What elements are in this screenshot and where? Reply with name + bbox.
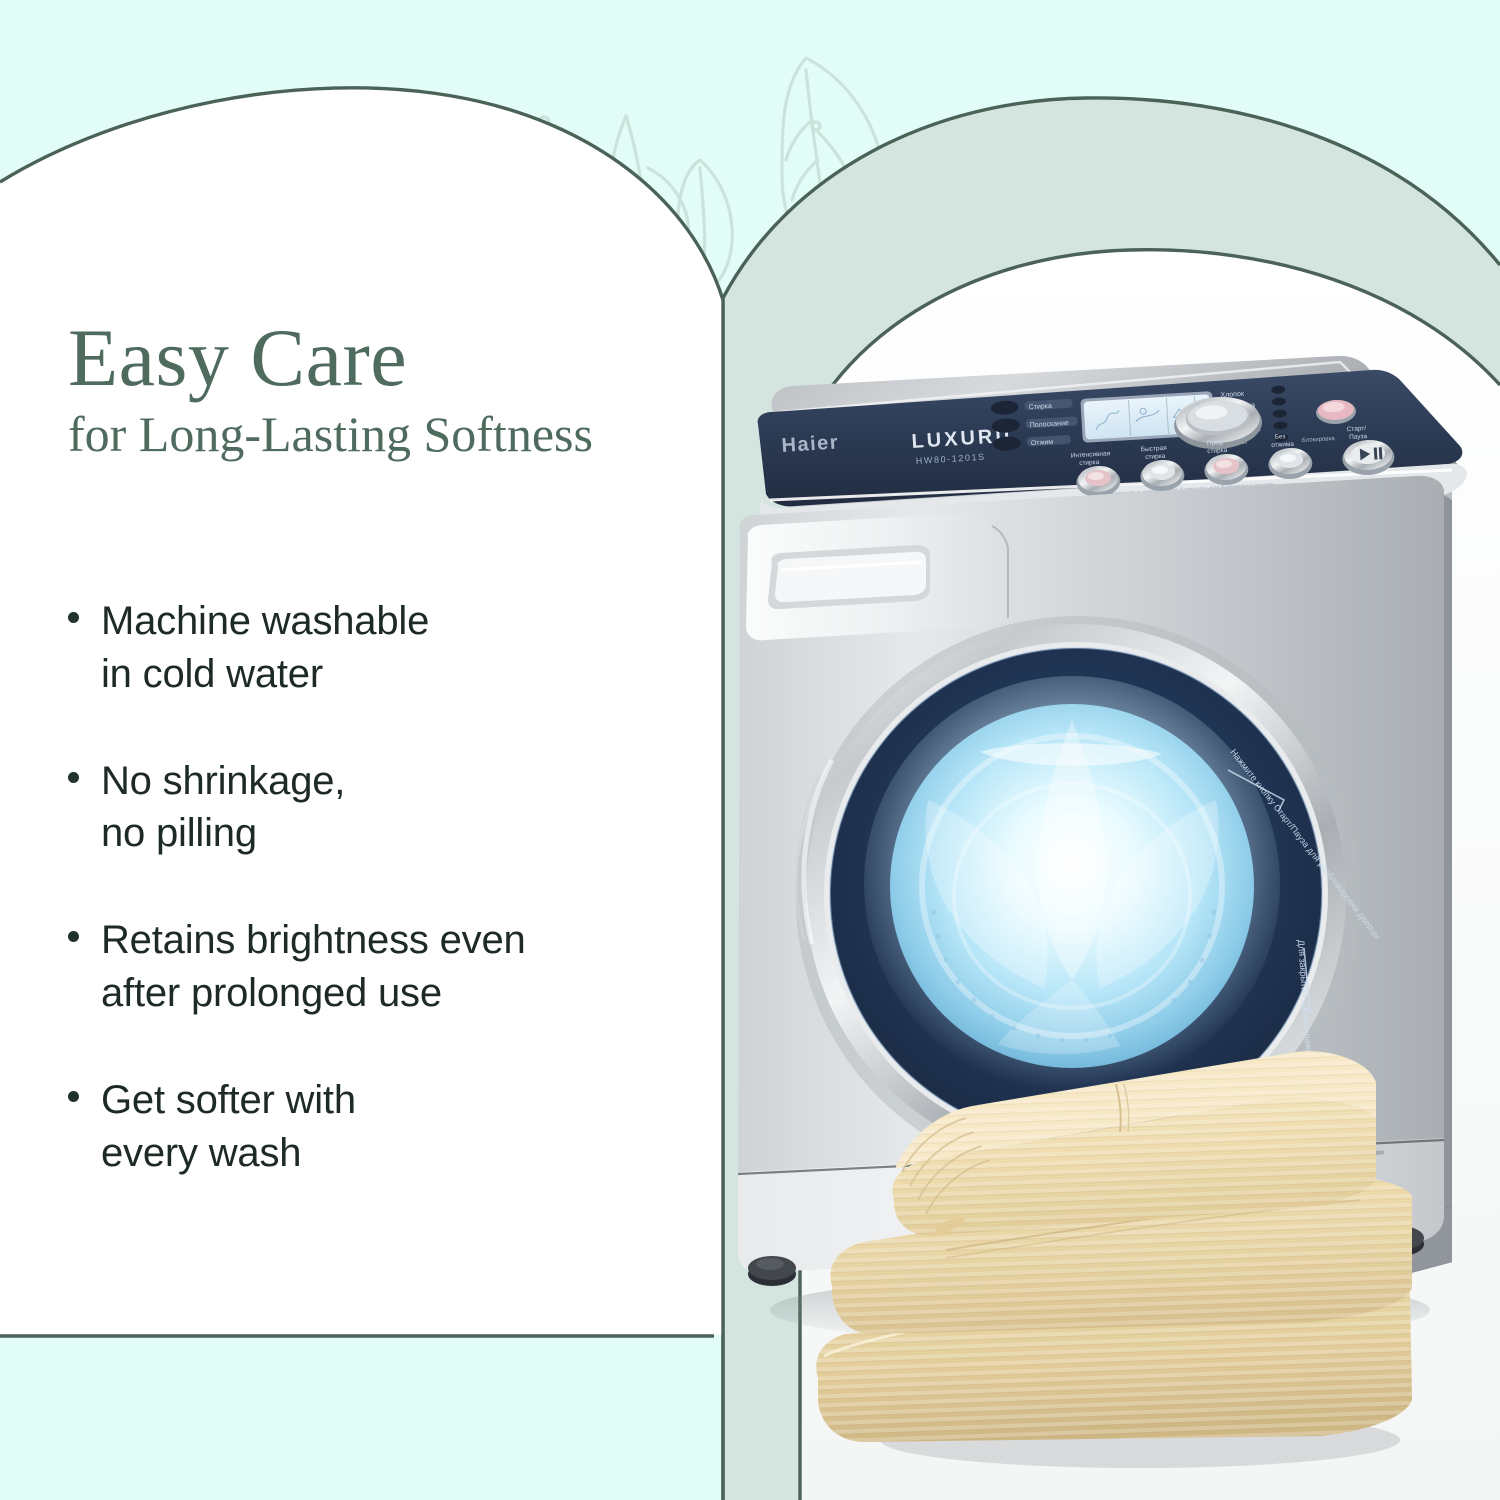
drawer-handle-grip [775,552,926,602]
option-label: Стирка [1029,403,1053,411]
headline-line-2: for Long-Lasting Softness [68,406,668,462]
bullet-dot-icon [68,931,79,942]
bullet-dot-icon [68,612,79,623]
button-label: Пауза [1349,433,1368,441]
feature-list: Machine washable in cold water No shrink… [68,595,708,1233]
bullet-dot-icon [68,772,79,783]
list-item-label: Machine washable in cold water [101,595,429,701]
button-label: стирка [1079,459,1100,467]
bullet-dot-icon [68,1091,79,1102]
machine-foot [748,1256,796,1286]
list-item: Get softer with every wash [68,1074,708,1180]
option-group-left: Стирка Полоскание Отжим [990,396,1079,451]
button-label: Без [1275,433,1286,441]
list-item: Machine washable in cold water [68,595,708,701]
button-label: стирка [1145,453,1166,461]
page-title: Easy Care for Long-Lasting Softness [68,318,668,462]
product-photo-washing-machine: Haier LUXURII HW80-1201S Стирка Полоскан… [700,300,1500,1500]
copy-column: Easy Care for Long-Lasting Softness Mach… [0,0,723,1500]
brand-logo-haier: Haier [781,431,840,457]
headline-line-1: Easy Care [68,318,668,398]
button-label: Старт/ [1346,425,1366,433]
button-label: стирка [1207,447,1228,455]
list-item-label: No shrinkage, no pilling [101,755,345,861]
list-item-label: Get softer with every wash [101,1074,356,1180]
list-item: No shrinkage, no pilling [68,755,708,861]
option-label: Отжим [1031,439,1054,447]
button-label: отжима [1271,441,1294,449]
button-label: Пред- [1207,439,1225,447]
list-item-label: Retains brightness even after prolonged … [101,914,526,1020]
list-item: Retains brightness even after prolonged … [68,914,708,1020]
poster-canvas: Easy Care for Long-Lasting Softness Mach… [0,0,1500,1500]
